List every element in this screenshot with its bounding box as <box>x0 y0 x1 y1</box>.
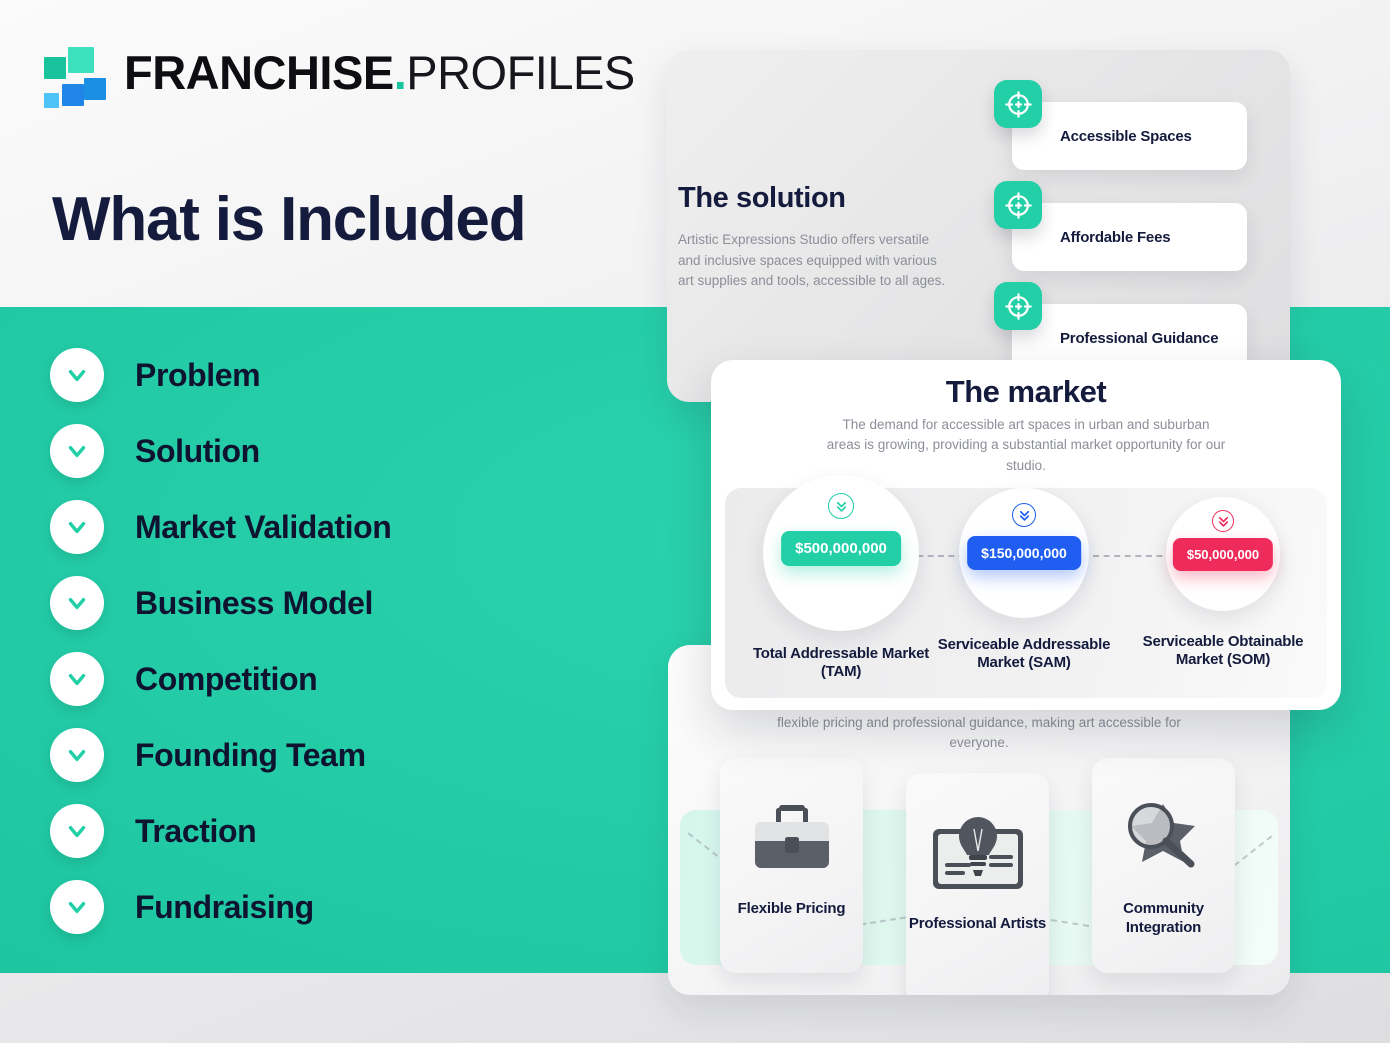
market-card: The market The demand for accessible art… <box>711 360 1341 710</box>
list-item[interactable]: Market Validation <box>50 500 391 554</box>
slide-root: FRANCHISE.PROFILES What is Included Prob… <box>0 0 1390 1043</box>
list-item[interactable]: Solution <box>50 424 391 478</box>
feature-label: Accessible Spaces <box>1060 128 1192 145</box>
list-item-label: Problem <box>135 357 260 394</box>
list-item-label: Founding Team <box>135 737 366 774</box>
solution-body-text: Artistic Expressions Studio offers versa… <box>678 230 950 292</box>
crosshair-target-icon <box>994 282 1042 330</box>
market-segment-som[interactable]: $50,000,000 Serviceable Obtainable Marke… <box>1122 475 1324 670</box>
chevron-down-icon <box>50 804 104 858</box>
value-prop-label: Flexible Pricing <box>738 900 846 919</box>
chevron-down-icon <box>50 880 104 934</box>
market-bubble: $500,000,000 <box>763 475 919 631</box>
list-item[interactable]: Fundraising <box>50 880 391 934</box>
market-segment-label: Serviceable Obtainable Market (SOM) <box>1122 633 1324 670</box>
solution-card: The solution Artistic Expressions Studio… <box>667 50 1290 402</box>
chevron-down-icon <box>50 500 104 554</box>
value-prop-card[interactable]: Community Integration <box>1092 758 1235 973</box>
market-segment-label: Total Addressable Market (TAM) <box>740 645 942 682</box>
briefcase-icon <box>749 780 835 898</box>
feature-card[interactable]: Accessible Spaces <box>1012 102 1247 170</box>
list-item[interactable]: Competition <box>50 652 391 706</box>
list-item[interactable]: Business Model <box>50 576 391 630</box>
value-props-description: flexible pricing and professional guidan… <box>764 713 1194 754</box>
double-chevron-down-icon <box>1212 510 1234 532</box>
list-item[interactable]: Problem <box>50 348 391 402</box>
solution-heading: The solution <box>678 182 846 215</box>
feature-card[interactable]: Affordable Fees <box>1012 203 1247 271</box>
list-item-label: Business Model <box>135 585 373 622</box>
brand-name-light: PROFILES <box>406 49 634 96</box>
value-prop-label: Community Integration <box>1092 900 1235 938</box>
feature-label: Professional Guidance <box>1060 330 1218 347</box>
list-item-label: Market Validation <box>135 509 391 546</box>
market-title: The market <box>946 374 1106 410</box>
list-item[interactable]: Traction <box>50 804 391 858</box>
page-title: What is Included <box>52 187 525 252</box>
market-value-badge: $500,000,000 <box>781 531 901 566</box>
market-bubble: $150,000,000 <box>959 488 1089 618</box>
brand-dot: . <box>394 49 407 96</box>
value-prop-card[interactable]: Flexible Pricing <box>720 758 863 973</box>
list-item-label: Competition <box>135 661 317 698</box>
market-value-badge: $150,000,000 <box>967 536 1081 570</box>
squares-logo-icon <box>44 46 106 98</box>
included-sections-list: Problem Solution Market Validation Busin… <box>50 348 391 934</box>
crosshair-target-icon <box>994 181 1042 229</box>
list-item-label: Traction <box>135 813 256 850</box>
list-item-label: Solution <box>135 433 260 470</box>
chevron-down-icon <box>50 728 104 782</box>
brand-wordmark: FRANCHISE.PROFILES <box>124 49 635 96</box>
chevron-down-icon <box>50 348 104 402</box>
market-segment-sam[interactable]: $150,000,000 Serviceable Addressable Mar… <box>923 475 1125 673</box>
list-item-label: Fundraising <box>135 889 314 926</box>
brand-logo[interactable]: FRANCHISE.PROFILES <box>44 46 635 98</box>
chevron-down-icon <box>50 576 104 630</box>
brand-name-bold: FRANCHISE <box>124 49 394 96</box>
market-description: The demand for accessible art spaces in … <box>826 415 1226 476</box>
list-item[interactable]: Founding Team <box>50 728 391 782</box>
value-prop-label: Professional Artists <box>909 915 1046 934</box>
chevron-down-icon <box>50 652 104 706</box>
market-bubble: $50,000,000 <box>1166 497 1280 611</box>
star-magnifier-icon <box>1115 780 1213 898</box>
feature-label: Affordable Fees <box>1060 229 1170 246</box>
market-segment-label: Serviceable Addressable Market (SAM) <box>923 636 1125 673</box>
crosshair-target-icon <box>994 80 1042 128</box>
double-chevron-down-icon <box>828 493 854 519</box>
chevron-down-icon <box>50 424 104 478</box>
double-chevron-down-icon <box>1012 503 1036 527</box>
value-prop-card[interactable]: Professional Artists <box>906 773 1049 995</box>
lightbulb-certificate-icon <box>929 795 1027 913</box>
market-value-badge: $50,000,000 <box>1173 538 1273 571</box>
market-segment-tam[interactable]: $500,000,000 Total Addressable Market (T… <box>740 475 942 682</box>
